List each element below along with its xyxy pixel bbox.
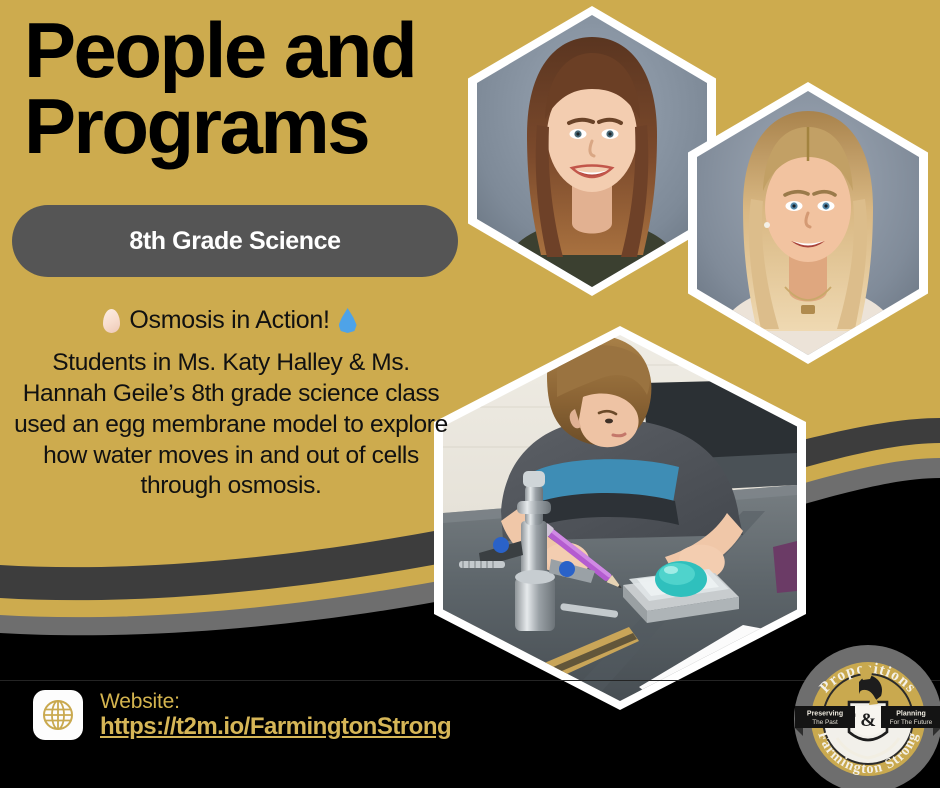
logo-banner-right-line-2: For The Future: [890, 719, 933, 726]
website-label: Website:: [100, 690, 451, 714]
page-title: People and Programs: [24, 12, 415, 165]
water-droplet-emoji-icon: [339, 308, 357, 333]
subject-badge-label: 8th Grade Science: [129, 227, 340, 256]
egg-emoji-icon: [103, 309, 120, 333]
logo-banner-right-line-1: Planning: [896, 711, 926, 718]
contact-text-block: Website: https://t2m.io/FarmingtonStrong: [100, 690, 451, 740]
organization-logo: Propositions Farmington Strong F & S Pre…: [793, 644, 940, 788]
body-copy: Students in Ms. Katy Halley & Ms. Hannah…: [14, 348, 448, 502]
photo-teacher-portrait-2-image: [697, 91, 919, 355]
globe-icon: [33, 690, 83, 740]
subject-badge: 8th Grade Science: [12, 205, 458, 277]
poster-canvas: People and Programs 8th Grade Science Os…: [0, 0, 940, 788]
photo-teacher-portrait-1-image: [477, 15, 707, 287]
footer-contact: Website: https://t2m.io/FarmingtonStrong: [33, 690, 451, 740]
tagline: Osmosis in Action!: [0, 306, 460, 335]
logo-banner-left-line-1: Preserving: [807, 711, 843, 718]
tagline-text: Osmosis in Action!: [129, 306, 329, 335]
logo-banner-left-line-2: The Past: [812, 719, 838, 726]
page-title-line-1: People and: [24, 6, 415, 94]
page-title-line-2: Programs: [24, 88, 415, 164]
website-url-link[interactable]: https://t2m.io/FarmingtonStrong: [100, 714, 451, 741]
